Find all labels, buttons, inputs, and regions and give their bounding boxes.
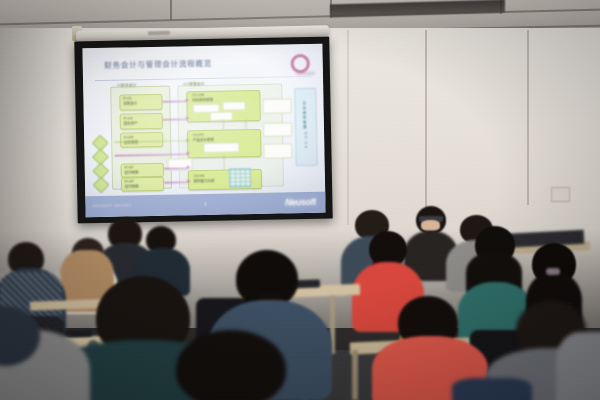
person-shoulder (556, 332, 600, 400)
foreground-person-head (176, 330, 286, 400)
desk-leg (352, 350, 358, 400)
classroom-photo: 财务会计与管理会计流程概览 FI财务会计 CO管理会计 FI-GL 总账会计 (0, 0, 600, 400)
audience-area (0, 0, 600, 400)
hair-tie (546, 268, 560, 275)
presenter-face (421, 220, 440, 231)
person-shoulder (452, 378, 532, 400)
desk-item (64, 330, 92, 338)
